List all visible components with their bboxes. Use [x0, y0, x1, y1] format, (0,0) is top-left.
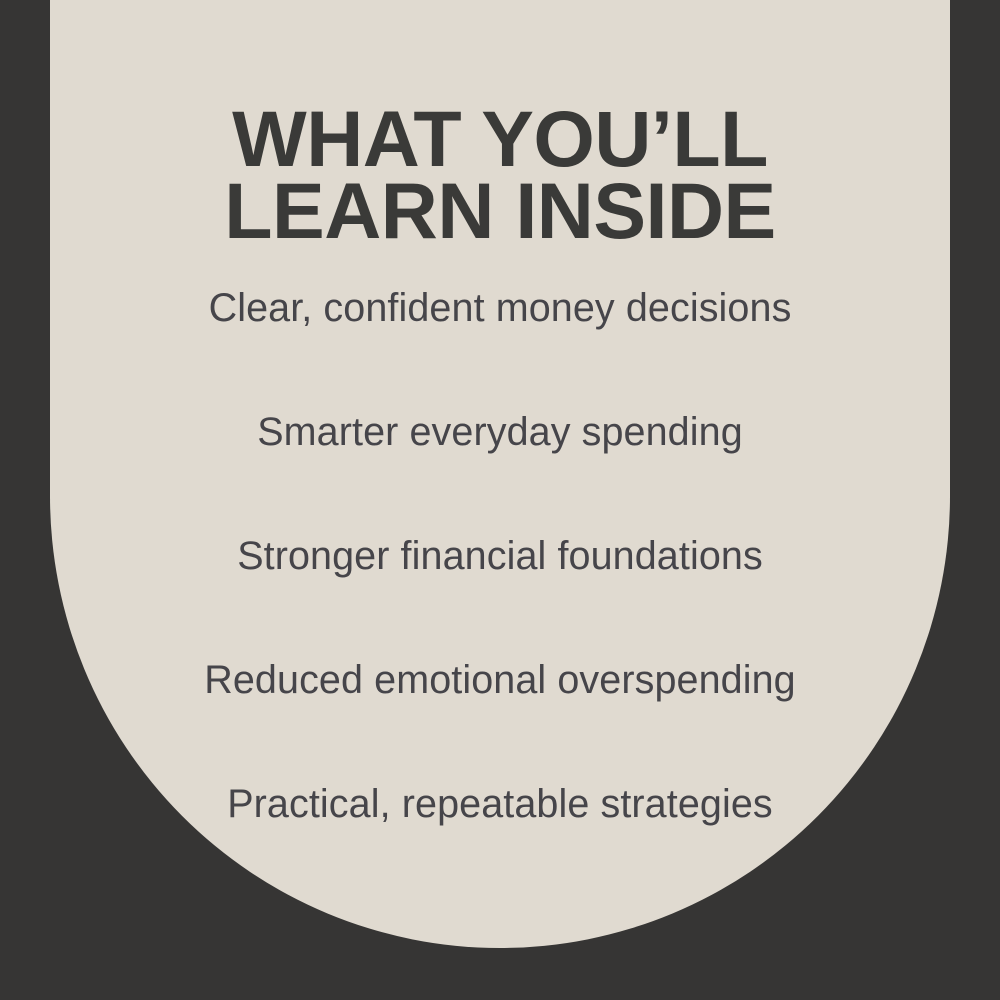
page-title-line-1: WHAT YOU’LL — [50, 103, 950, 175]
list-item: Clear, confident money decisions — [50, 246, 950, 370]
list-item: Reduced emotional overspending — [50, 618, 950, 742]
benefits-list: Clear, confident money decisions Smarter… — [50, 246, 950, 866]
page-title-line-2: LEARN INSIDE — [50, 175, 950, 247]
slide-canvas: WHAT YOU’LL LEARN INSIDE Clear, confiden… — [0, 0, 1000, 1000]
list-item: Stronger financial foundations — [50, 494, 950, 618]
list-item: Practical, repeatable strategies — [50, 742, 950, 866]
arch-card: WHAT YOU’LL LEARN INSIDE Clear, confiden… — [50, 0, 950, 948]
list-item: Smarter everyday spending — [50, 370, 950, 494]
page-title: WHAT YOU’LL LEARN INSIDE — [50, 103, 950, 247]
card-content: WHAT YOU’LL LEARN INSIDE Clear, confiden… — [50, 0, 950, 948]
